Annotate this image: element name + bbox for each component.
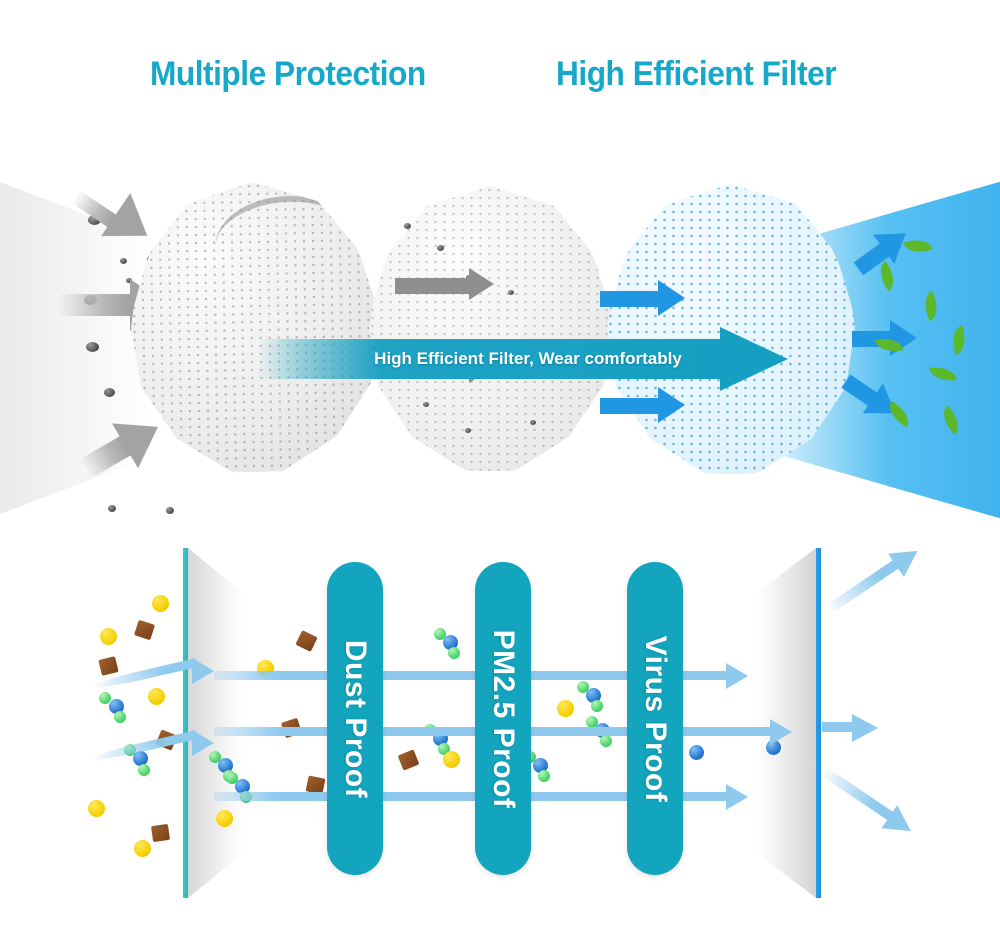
pollen-particle — [148, 688, 165, 705]
mask-texture — [368, 186, 613, 471]
banner-arrow-head — [720, 327, 788, 391]
pollen-particle — [216, 810, 233, 827]
trapped-particle — [508, 290, 514, 295]
dust-particle — [151, 824, 170, 842]
headings-row: Multiple Protection High Efficient Filte… — [0, 48, 1000, 100]
pollen-particle — [557, 700, 574, 717]
pollution-particle — [166, 507, 174, 514]
infographic-canvas: Multiple Protection High Efficient Filte… — [0, 0, 1000, 950]
virus-spike — [138, 764, 150, 776]
inlet-membrane — [183, 548, 245, 898]
inlet-membrane-panel — [188, 548, 244, 898]
virus-spike — [448, 647, 460, 659]
pollen-particle — [152, 595, 169, 612]
outlet-membrane-line — [816, 548, 821, 898]
virus-spike — [114, 711, 126, 723]
dust-particle — [98, 656, 118, 676]
trapped-particle — [423, 402, 429, 407]
filter-pill-label: Virus Proof — [638, 635, 672, 802]
heading-high-efficient-filter: High Efficient Filter — [556, 48, 836, 100]
pollution-particle — [108, 505, 116, 512]
virus-core — [689, 745, 704, 760]
trapped-particle — [465, 428, 471, 433]
pollution-particle — [86, 342, 99, 352]
pollen-particle — [88, 800, 105, 817]
dust-particle — [398, 749, 420, 770]
bottom-filtration-diagram: Dust Proof PM2.5 Proof Virus Proof — [0, 540, 1000, 950]
trapped-particle — [530, 420, 536, 425]
filter-pill-dust-proof[interactable]: Dust Proof — [327, 562, 383, 875]
pollution-particle — [104, 388, 115, 397]
virus-spike — [600, 735, 612, 747]
filter-pill-virus-proof[interactable]: Virus Proof — [627, 562, 683, 875]
filter-pill-pm25-proof[interactable]: PM2.5 Proof — [475, 562, 531, 875]
filter-pill-label: Dust Proof — [338, 639, 372, 797]
pollen-particle — [443, 751, 460, 768]
mask-layer-outer — [127, 180, 382, 474]
mask-layer-middle — [368, 186, 613, 471]
banner-text: High Efficient Filter, Wear comfortably — [328, 339, 728, 379]
banner-arrow: High Efficient Filter, Wear comfortably — [258, 333, 788, 385]
pollution-particle — [120, 258, 127, 264]
pollen-particle — [134, 840, 151, 857]
dust-particle — [295, 630, 317, 652]
trapped-particle — [437, 245, 444, 251]
trapped-particle — [404, 223, 411, 229]
filter-pill-label: PM2.5 Proof — [486, 629, 520, 808]
virus-spike — [591, 700, 603, 712]
inlet-membrane-line — [183, 548, 188, 898]
dust-particle — [134, 620, 155, 640]
pollen-particle — [100, 628, 117, 645]
virus-spike — [538, 770, 550, 782]
heading-multiple-protection: Multiple Protection — [150, 48, 426, 100]
